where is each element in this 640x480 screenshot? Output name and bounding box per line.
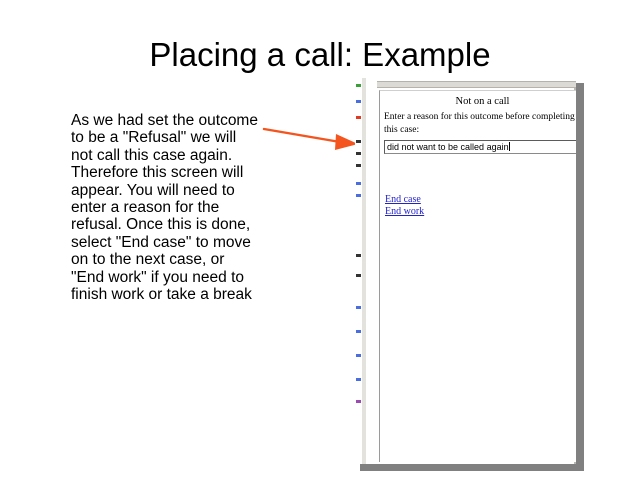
underlying-page-mark xyxy=(356,194,361,197)
dialog-content: Not on a call Enter a reason for this ou… xyxy=(379,90,576,462)
dialog-heading: Not on a call xyxy=(380,96,576,107)
underlying-page-mark xyxy=(356,152,361,155)
page-title: Placing a call: Example xyxy=(0,36,640,74)
reason-prompt-label: Enter a reason for this outcome before c… xyxy=(384,111,576,137)
underlying-page-mark xyxy=(356,164,361,167)
underlying-page-mark xyxy=(356,84,361,87)
underlying-page-mark xyxy=(356,140,361,143)
underlying-page-mark xyxy=(356,306,361,309)
underlying-page-mark xyxy=(356,400,361,403)
horizontal-scrollbar[interactable] xyxy=(377,81,576,88)
underlying-page-mark xyxy=(356,116,361,119)
underlying-page-mark xyxy=(356,182,361,185)
underlying-page-mark xyxy=(356,354,361,357)
reason-input[interactable]: did not want to be called again xyxy=(384,140,576,154)
underlying-page-mark xyxy=(356,378,361,381)
reason-input-value: did not want to be called again xyxy=(387,142,509,152)
embedded-screenshot: Not on a call Enter a reason for this ou… xyxy=(355,78,576,464)
underlying-page-sliver xyxy=(355,78,366,464)
underlying-page-mark xyxy=(356,100,361,103)
end-case-link[interactable]: End case xyxy=(385,194,424,206)
dialog-frame: Not on a call Enter a reason for this ou… xyxy=(366,78,576,464)
end-work-link[interactable]: End work xyxy=(385,206,424,218)
red-arrow-icon xyxy=(262,120,362,154)
underlying-page-mark xyxy=(356,254,361,257)
dialog-action-links: End case End work xyxy=(385,194,424,218)
underlying-page-mark xyxy=(356,330,361,333)
underlying-page-mark xyxy=(356,274,361,277)
slide-body-text: As we had set the outcome to be a "Refus… xyxy=(71,112,261,303)
text-cursor xyxy=(509,142,510,151)
arrow-annotation xyxy=(262,120,362,154)
